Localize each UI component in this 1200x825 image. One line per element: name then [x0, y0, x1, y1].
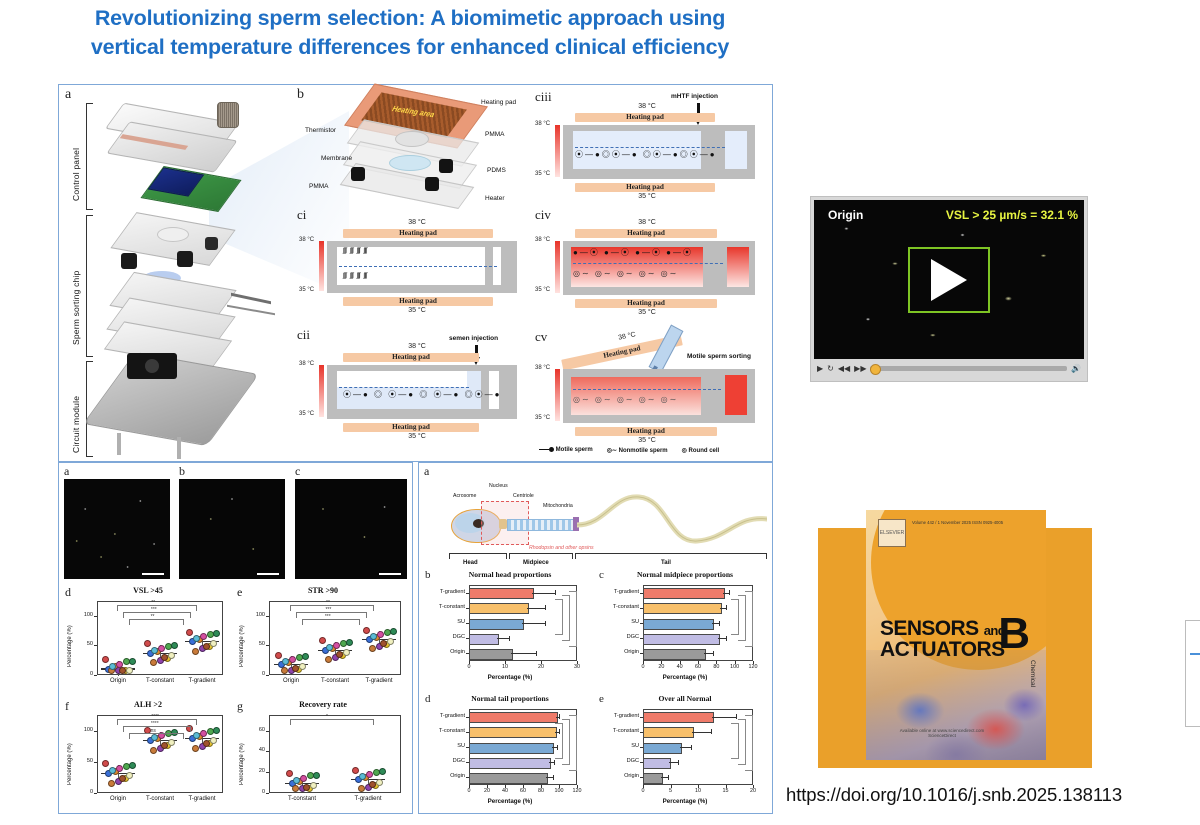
significance-label: **** — [151, 714, 159, 720]
y-tickmark — [266, 645, 269, 646]
video-overlay-origin: Origin — [828, 208, 863, 222]
ci-scale-bottom: 35 °C — [299, 287, 314, 293]
standoff-b — [177, 251, 193, 267]
significance-bracket — [731, 599, 739, 635]
x-tickmark — [753, 661, 754, 664]
data-point — [161, 654, 168, 661]
bar-e-2 — [643, 743, 682, 754]
scale-bar-b — [257, 573, 279, 575]
x-tickmark — [726, 785, 727, 788]
legend-label-motile: Motile sperm — [556, 448, 593, 454]
x-tick-d-100: 100 — [549, 788, 569, 794]
scatter-plot-d: dVSL >45Percentage (%)050100OriginT-cons… — [63, 583, 233, 695]
bar-c-0 — [643, 588, 725, 599]
cv-residual-cells: ◎∼ ◎∼ ◎∼ ◎∼ ◎∼ — [573, 395, 678, 404]
significance-bracket — [129, 733, 184, 739]
micrograph-c — [295, 479, 407, 579]
label-centriole: Centriole — [513, 493, 534, 499]
significance-bracket — [555, 599, 563, 635]
significance-bracket — [731, 723, 739, 759]
scatter-plot-grid: dVSL >45Percentage (%)050100OriginT-cons… — [59, 581, 414, 815]
data-point — [109, 663, 116, 670]
legend-item-motile: Motile sperm — [539, 447, 593, 453]
error-cap — [711, 729, 712, 734]
data-point — [379, 768, 386, 775]
bracket-label-sperm-sorting-chip: Sperm sorting chip — [71, 235, 81, 345]
significance-bracket — [296, 612, 367, 618]
cross-section-ciii: ciii mHTF injection 38 °C Heating pad 38… — [535, 89, 773, 207]
bar-e-4 — [643, 773, 663, 784]
x-tick-e-10: 10 — [688, 788, 708, 794]
error-cap — [536, 651, 537, 656]
panel-label-2b: b — [179, 464, 185, 479]
panel-label-2a: a — [64, 464, 69, 479]
data-point — [203, 643, 210, 650]
x-tickmark — [505, 661, 506, 664]
bar-b-3 — [469, 634, 499, 645]
significance-bracket — [555, 723, 563, 759]
cv-bottom-temp: 35 °C — [587, 437, 707, 444]
seek-bar[interactable] — [870, 366, 1067, 371]
panel-label-2c: c — [295, 464, 300, 479]
cv-interface-line — [573, 389, 721, 390]
y-axis-label-e: Percentage (%) — [239, 611, 245, 667]
bar-c-2 — [643, 619, 714, 630]
ci-bottom-temp: 35 °C — [357, 307, 477, 314]
bar-chart-e: eOver all NormalT-gradientT-constantSUDG… — [597, 691, 773, 815]
y-tickmark — [94, 675, 97, 676]
panel-label-civ: civ — [535, 207, 551, 223]
data-point — [275, 652, 282, 659]
page-title-line1: Revolutionizing sperm selection: A biomi… — [0, 4, 820, 33]
x-tick-c-40: 40 — [670, 664, 690, 670]
forward-icon[interactable]: ▶▶ — [854, 364, 866, 373]
label-nucleus: Nucleus — [489, 483, 508, 489]
foot-2 — [177, 437, 181, 459]
cross-section-cv: cv 38 °C Heating pad Motile sperm sortin… — [535, 327, 773, 459]
data-point — [299, 663, 306, 670]
data-point — [363, 627, 370, 634]
error-bar — [669, 762, 678, 763]
civ-scale-bottom: 35 °C — [535, 287, 550, 293]
cross-section-cii: cii semen injection 38 °C Heating pad 38… — [297, 327, 535, 455]
chip-exploded-illustration: Heating area Heating pad PMMA PDMS Heate… — [299, 89, 529, 207]
bar-e-3 — [643, 758, 671, 769]
panel-label-cv: cv — [535, 329, 547, 345]
x-axis-label-e: Percentage (%) — [597, 798, 773, 805]
civ-scale-top: 38 °C — [535, 237, 550, 243]
error-bar — [527, 608, 545, 609]
cv-annotation: Motile sperm sorting — [687, 353, 751, 360]
x-tick-b-10: 10 — [495, 664, 515, 670]
figure-1-device-overview: a Control panel Sperm sorting chip Circu… — [58, 84, 773, 462]
civ-top-temp: 38 °C — [587, 219, 707, 226]
label-rhodopsin-opsins: Rhodopsin and other opsins — [529, 545, 594, 551]
x-tick-e-20: 20 — [743, 788, 763, 794]
segment-label-head: Head — [463, 560, 478, 566]
bar-b-1 — [469, 603, 529, 614]
data-point — [151, 647, 158, 654]
category-label-b-2: SU — [425, 619, 465, 625]
significance-bracket — [290, 605, 374, 611]
cii-bottom-temp: 35 °C — [357, 433, 477, 440]
scatter-plot-e: eSTR >90Percentage (%)050100OriginT-cons… — [235, 583, 411, 695]
y-tickmark — [94, 616, 97, 617]
data-point — [203, 740, 210, 747]
x-tick-d-0: 0 — [459, 788, 479, 794]
ci-heating-pad-top: Heating pad — [343, 229, 493, 238]
ciii-interface-line — [575, 147, 725, 148]
centriole-shape — [499, 519, 507, 529]
y-tickmark — [266, 772, 269, 773]
category-label-c-0: T-gradient — [599, 589, 639, 595]
error-cap — [736, 714, 737, 719]
civ-nonmotile-sperm: ◎∼ ◎∼ ◎∼ ◎∼ ◎∼ — [573, 269, 678, 278]
category-label-c-2: SU — [599, 619, 639, 625]
significance-label: * — [326, 714, 328, 720]
cover-volume-meta: Volume 442 / 1 November 2025 ISSN 0925-4… — [912, 520, 1003, 525]
data-point — [126, 667, 133, 674]
data-point — [377, 631, 384, 638]
y-axis-label-g: Percentage (%) — [239, 725, 245, 785]
ci-scale-top: 38 °C — [299, 237, 314, 243]
bracket-circuit-module — [86, 361, 93, 457]
data-point — [289, 656, 296, 663]
data-point — [300, 775, 307, 782]
bar-chart-grid: bNormal head proportionsT-gradientT-cons… — [419, 567, 774, 815]
x-tick-c-60: 60 — [688, 664, 708, 670]
right-edge-panel — [1185, 620, 1200, 727]
error-bar — [712, 717, 736, 718]
error-cap — [509, 636, 510, 641]
bracket-label-circuit-module: Circuit module — [71, 373, 81, 453]
x-tick-d-80: 80 — [531, 788, 551, 794]
x-axis-label-d: Percentage (%) — [423, 798, 597, 805]
data-point — [346, 639, 353, 646]
data-point — [325, 656, 332, 663]
x-tickmark — [541, 661, 542, 664]
error-cap — [555, 590, 556, 595]
label-acrosome: Acrosome — [453, 493, 476, 499]
sperm-anatomy-diagram: Acrosome Nucleus Centriole Mitochondria … — [423, 477, 771, 569]
error-cap — [545, 621, 546, 626]
y-axis-label-f: Percentage (%) — [67, 725, 73, 785]
y-tick-e-50: 50 — [249, 641, 265, 647]
civ-bottom-temp: 35 °C — [587, 309, 707, 316]
y-tickmark — [94, 731, 97, 732]
cii-heating-pad-bottom: Heating pad — [343, 423, 479, 432]
bar-c-1 — [643, 603, 722, 614]
scatter-title-g: Recovery rate — [235, 700, 411, 709]
cii-heating-pad-top: Heating pad — [343, 353, 479, 362]
category-label-d-3: DGC — [425, 758, 465, 764]
legend-label-round: Round cell — [689, 448, 720, 454]
error-cap — [545, 605, 546, 610]
x-tick-d-120: 120 — [567, 788, 587, 794]
x-tickmark — [698, 661, 699, 664]
ci-interface-line — [339, 266, 497, 267]
ci-top-temp: 38 °C — [357, 219, 477, 226]
sperm-tail-shape — [577, 491, 767, 553]
category-label-c-1: T-constant — [599, 604, 639, 610]
play-icon[interactable] — [908, 247, 990, 313]
y-tick-e-0: 0 — [249, 671, 265, 677]
x-tick-g-0: T-constant — [270, 796, 334, 802]
cover-title-line1: SENSORS and — [880, 618, 1005, 639]
significance-bracket — [562, 719, 570, 765]
scale-bar-c — [379, 573, 401, 575]
x-tick-c-0: 0 — [633, 664, 653, 670]
fan-hub — [145, 359, 159, 373]
x-tickmark — [541, 785, 542, 788]
cv-temp-scale — [555, 369, 560, 421]
y-tick-f-0: 0 — [77, 789, 93, 795]
rewind-icon[interactable]: ◀◀ — [838, 364, 850, 373]
data-point — [161, 742, 168, 749]
ci-heating-pad-bottom: Heating pad — [343, 297, 493, 306]
x-tick-b-30: 30 — [567, 664, 587, 670]
significance-label: ** — [326, 600, 330, 606]
x-tickmark — [735, 661, 736, 664]
ci-temp-scale — [319, 241, 324, 291]
membrane-layer — [389, 155, 431, 171]
data-point — [213, 727, 220, 734]
cover-word-actuators: ACTUATORS — [880, 639, 1005, 660]
x-tick-d-60: 60 — [513, 788, 533, 794]
x-tickmark — [487, 785, 488, 788]
bracket-sperm-sorting-chip — [86, 215, 93, 357]
panel-label-ciii: ciii — [535, 89, 552, 105]
x-tickmark — [523, 785, 524, 788]
y-tick-g-60: 60 — [249, 727, 265, 733]
elsevier-logo: ELSEVIER — [878, 519, 906, 547]
data-point — [192, 648, 199, 655]
significance-bracket — [738, 719, 746, 765]
significance-label: *** — [325, 607, 331, 613]
error-cap — [713, 651, 714, 656]
x-tick-b-20: 20 — [531, 664, 551, 670]
category-label-e-0: T-gradient — [599, 713, 639, 719]
x-tick-d-20: 20 — [477, 788, 497, 794]
knurled-knob — [217, 102, 239, 128]
legend-item-nonmotile: ◎∼ Nonmotile sperm — [607, 447, 668, 454]
cv-sorted-well — [725, 375, 747, 415]
bar-chart-title-b: Normal head proportions — [423, 570, 597, 579]
play-icon-small[interactable]: ▶ — [817, 364, 823, 373]
legend-label-nonmotile: Nonmotile sperm — [619, 448, 668, 454]
post-2 — [439, 159, 453, 173]
bar-b-0 — [469, 588, 534, 599]
category-label-e-3: DGC — [599, 758, 639, 764]
y-tickmark — [94, 793, 97, 794]
error-bar — [704, 653, 713, 654]
data-point — [292, 785, 299, 792]
cover-footer: Available online at www.sciencedirect.co… — [892, 728, 992, 738]
category-label-d-2: SU — [425, 743, 465, 749]
x-tickmark — [753, 785, 754, 788]
midpiece-mitochondria — [507, 519, 575, 531]
data-point — [150, 747, 157, 754]
volume-icon[interactable]: 🔊 — [1071, 364, 1081, 373]
callout-membrane: Membrane — [321, 155, 352, 162]
cv-scale-bottom: 35 °C — [535, 415, 550, 421]
error-cap — [554, 760, 555, 765]
scatter-plot-g: gRecovery ratePercentage (%)0204060T-con… — [235, 697, 411, 813]
significance-label: ns — [151, 728, 156, 734]
cover-chemical-label: Chemical — [1029, 660, 1036, 687]
error-bar — [532, 593, 555, 594]
significance-label: *** — [325, 614, 331, 620]
video-controls[interactable]: ▶ ↻ ◀◀ ▶▶ 🔊 — [814, 359, 1084, 377]
bar-chart-title-c: Normal midpiece proportions — [597, 570, 773, 579]
bracket-label-control-panel: Control panel — [71, 115, 81, 201]
data-point — [200, 730, 207, 737]
significance-bracket — [745, 591, 753, 647]
category-label-d-1: T-constant — [425, 728, 465, 734]
x-tick-c-120: 120 — [743, 664, 763, 670]
video-player[interactable]: Origin VSL > 25 µm/s = 32.1 % ▶ ↻ ◀◀ ▶▶ … — [810, 196, 1088, 382]
post-1 — [351, 167, 365, 181]
category-label-e-2: SU — [599, 743, 639, 749]
data-point — [150, 659, 157, 666]
bar-d-3 — [469, 758, 551, 769]
legend-item-round: ◎ Round cell — [682, 447, 720, 454]
callout-heating-pad: Heating pad — [481, 99, 516, 106]
cii-temp-scale — [319, 365, 324, 417]
x-tickmark — [643, 785, 644, 788]
cross-section-civ: civ 38 °C Heating pad 38 °C 35 °C ●—⦿ ●—… — [535, 207, 773, 325]
significance-bracket — [123, 612, 191, 618]
figure-1-legend: Motile sperm ◎∼ Nonmotile sperm ◎ Round … — [539, 447, 719, 454]
data-point — [108, 780, 115, 787]
data-point — [281, 667, 288, 674]
significance-bracket — [562, 595, 570, 641]
data-point — [369, 781, 376, 788]
cii-annotation: semen injection — [449, 335, 498, 342]
thin-rod-2 — [227, 305, 275, 315]
y-tickmark — [266, 793, 269, 794]
error-bar — [511, 653, 536, 654]
x-tick-f-2: T-gradient — [170, 796, 234, 802]
category-label-c-3: DGC — [599, 634, 639, 640]
journal-cover: ELSEVIER Volume 442 / 1 November 2025 IS… — [818, 528, 1092, 768]
category-label-e-4: Origin — [599, 773, 639, 779]
x-tickmark — [559, 785, 560, 788]
bar-d-4 — [469, 773, 548, 784]
ciii-heating-pad-bottom: Heating pad — [575, 183, 715, 192]
y-tick-g-0: 0 — [249, 789, 265, 795]
cii-sperm-cells: ⦿—● ◎ ⦿—● ◎ ⦿—● ◎⦿—● — [343, 389, 501, 400]
error-cap — [678, 760, 679, 765]
ciii-heating-pad-top: Heating pad — [575, 113, 715, 122]
significance-bracket — [569, 591, 577, 647]
panel-label-cii: cii — [297, 327, 310, 343]
x-tickmark — [469, 661, 470, 664]
error-cap — [726, 636, 727, 641]
bar-chart-d: dNormal tail proportionsT-gradientT-cons… — [423, 691, 597, 815]
error-bar — [661, 777, 668, 778]
data-point — [129, 762, 136, 769]
x-tick-e-15: 15 — [716, 788, 736, 794]
callout-pmma-bottom: PMMA — [309, 183, 329, 190]
data-point — [333, 642, 340, 649]
x-tick-e-5: 5 — [661, 788, 681, 794]
scatter-plot-f: fALH >2Percentage (%)050100OriginT-const… — [63, 697, 233, 813]
cover-word-sensors: SENSORS — [880, 617, 979, 640]
x-tick-c-80: 80 — [706, 664, 726, 670]
x-tickmark — [505, 785, 506, 788]
standoff-a — [121, 253, 137, 269]
data-point — [129, 658, 136, 665]
data-point — [313, 772, 320, 779]
bar-d-2 — [469, 743, 554, 754]
replay-icon[interactable]: ↻ — [827, 364, 834, 373]
x-tickmark — [469, 785, 470, 788]
civ-heating-pad-bottom: Heating pad — [575, 299, 717, 308]
data-point — [158, 645, 165, 652]
label-mitochondria: Mitochondria — [543, 503, 573, 509]
video-overlay-vsl: VSL > 25 µm/s = 32.1 % — [946, 208, 1078, 222]
error-cap — [729, 590, 730, 595]
chip-well — [157, 227, 189, 242]
ciii-top-temp: 38 °C — [587, 103, 707, 110]
chamber-ring — [395, 131, 429, 147]
figure-3-morphology-results: a Acrosome Nucleus Centriole Mitochondri… — [418, 462, 773, 814]
error-bar — [718, 638, 726, 639]
data-point — [343, 649, 350, 656]
x-tick-c-100: 100 — [725, 664, 745, 670]
micrograph-a — [64, 479, 170, 579]
significance-bracket — [738, 595, 746, 641]
x-tick-c-20: 20 — [651, 664, 671, 670]
page-title-line2: vertical temperature differences for enh… — [0, 33, 820, 62]
data-point — [119, 667, 126, 674]
bar-b-2 — [469, 619, 524, 630]
civ-outlet-well — [727, 247, 749, 287]
x-tickmark — [716, 661, 717, 664]
category-label-b-1: T-constant — [425, 604, 465, 610]
civ-heating-pad-top: Heating pad — [575, 229, 717, 238]
video-screen[interactable]: Origin VSL > 25 µm/s = 32.1 % — [814, 200, 1084, 359]
journal-cover-front: ELSEVIER Volume 442 / 1 November 2025 IS… — [866, 510, 1046, 760]
x-tickmark — [698, 785, 699, 788]
cii-top-temp: 38 °C — [357, 343, 477, 350]
y-tickmark — [266, 616, 269, 617]
segment-bracket-head — [449, 553, 507, 559]
scatter-title-f: ALH >2 — [63, 700, 233, 709]
error-bar — [522, 623, 544, 624]
x-tickmark — [661, 661, 662, 664]
error-cap — [559, 714, 560, 719]
cover-title: SENSORS and ACTUATORS — [880, 618, 1005, 661]
seek-knob[interactable] — [870, 364, 881, 375]
standoff-c — [205, 237, 218, 250]
callout-heater: Heater — [485, 195, 505, 202]
significance-bracket — [745, 715, 753, 771]
bar-d-0 — [469, 712, 558, 723]
data-point — [293, 777, 300, 784]
category-label-b-4: Origin — [425, 649, 465, 655]
error-cap — [668, 775, 669, 780]
bar-c-3 — [643, 634, 720, 645]
cv-scale-top: 38 °C — [535, 365, 550, 371]
x-tick-g-1: T-gradient — [336, 796, 400, 802]
significance-label: ** — [151, 600, 155, 606]
figure-2-motility-results: a b c dVSL >45Percentage (%)050100Origin… — [58, 462, 413, 814]
category-label-b-0: T-gradient — [425, 589, 465, 595]
doi-link[interactable]: https://doi.org/10.1016/j.snb.2025.13811… — [786, 784, 1166, 806]
ciii-scale-top: 38 °C — [535, 121, 550, 127]
